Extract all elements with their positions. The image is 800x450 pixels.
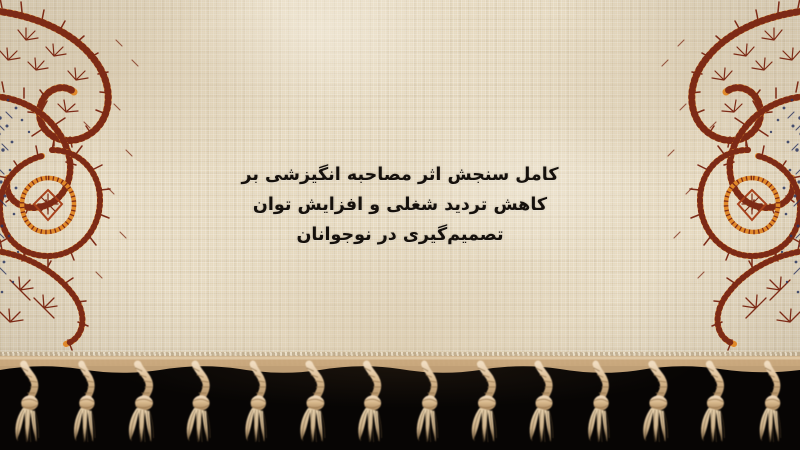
title-line-1: کامل سنجش اثر مصاحبه انگیزشی بر bbox=[160, 160, 640, 190]
black-background-field bbox=[0, 366, 800, 450]
title-line-2: کاهش تردید شغلی و افزایش توان bbox=[160, 190, 640, 220]
page-title: کامل سنجش اثر مصاحبه انگیزشی بر کاهش ترد… bbox=[160, 160, 640, 250]
textile-title-card: کامل سنجش اثر مصاحبه انگیزشی بر کاهش ترد… bbox=[0, 0, 800, 450]
title-line-3: تصمیم‌گیری در نوجوانان bbox=[160, 220, 640, 250]
